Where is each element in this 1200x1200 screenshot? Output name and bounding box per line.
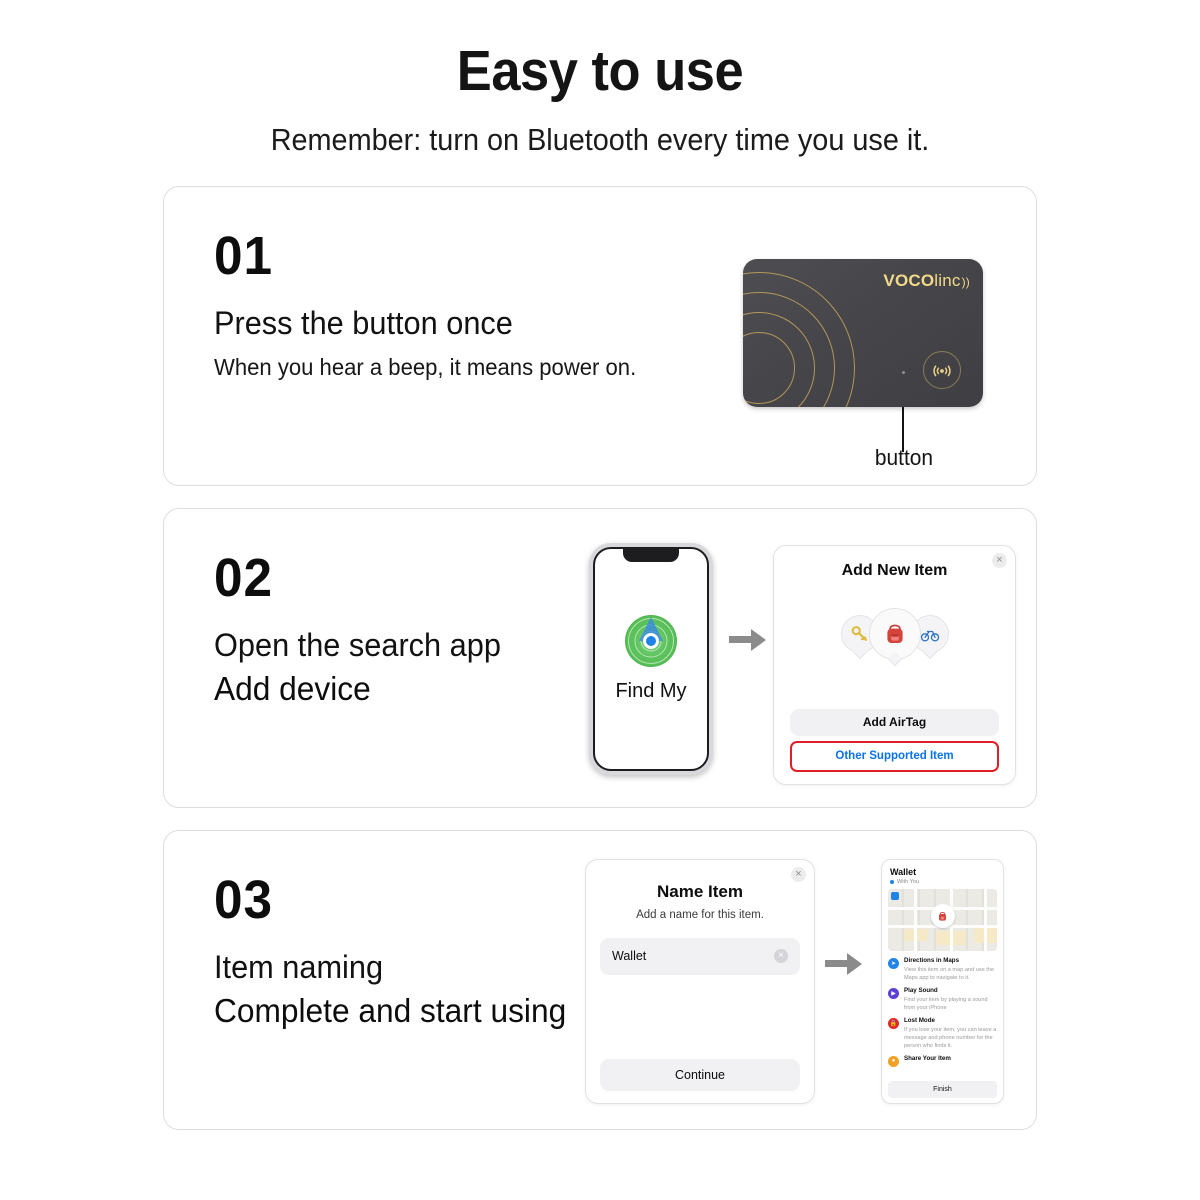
- wallet-detail-panel: Wallet With You: [881, 859, 1004, 1104]
- step-01-text: 01 Press the button once When you hear a…: [214, 229, 654, 381]
- add-new-item-title: Add New Item: [774, 562, 1015, 580]
- row-title: Directions in Maps: [904, 957, 997, 965]
- arrow-step2: [729, 629, 766, 651]
- row-desc: View this item on a map and use the Maps…: [904, 966, 997, 982]
- name-item-dialog: × Name Item Add a name for this item. Wa…: [585, 859, 815, 1104]
- status-dot-icon: [890, 880, 894, 884]
- list-item[interactable]: 🔒 Lost Mode If you lose your item, you c…: [888, 1017, 997, 1050]
- step-card-01: 01 Press the button once When you hear a…: [163, 186, 1037, 486]
- item-type-bubbles: [774, 608, 1015, 660]
- step-03-heading: Item naming: [214, 949, 566, 986]
- wallet-status: With You: [890, 879, 1003, 885]
- logo-linc-text: linc: [934, 271, 960, 291]
- logo-wifi-icon: )): [962, 275, 970, 289]
- findmy-app-label: Find My: [615, 680, 686, 703]
- arrow-step3: [825, 953, 862, 975]
- list-item[interactable]: ● Share Your Item: [888, 1055, 997, 1067]
- add-airtag-button[interactable]: Add AirTag: [790, 709, 999, 736]
- phone-screen: Find My: [593, 547, 709, 771]
- step-01-subtext: When you hear a beep, it means power on.: [214, 354, 636, 381]
- step-03-heading2: Complete and start using: [214, 992, 566, 1030]
- step-02-number: 02: [214, 551, 498, 605]
- name-item-subtitle: Add a name for this item.: [586, 909, 814, 921]
- wallet-status-text: With You: [897, 879, 919, 885]
- finish-button[interactable]: Finish: [888, 1081, 997, 1098]
- play-sound-icon: ▶: [888, 988, 899, 999]
- wallet-title: Wallet: [890, 867, 1003, 877]
- findmy-center-dot: [643, 633, 659, 649]
- tag-arc-pattern: [743, 277, 913, 407]
- step-02-heading: Open the search app: [214, 627, 501, 664]
- logo-voco-text: VOCO: [883, 271, 934, 291]
- wallet-action-list: ➤ Directions in Maps View this item on a…: [888, 957, 997, 1067]
- list-item[interactable]: ➤ Directions in Maps View this item on a…: [888, 957, 997, 982]
- close-icon[interactable]: ×: [992, 553, 1007, 568]
- other-supported-item-button[interactable]: Other Supported Item: [790, 741, 999, 772]
- row-desc: If you lose your item, you can leave a m…: [904, 1026, 997, 1050]
- close-icon[interactable]: ×: [791, 867, 806, 882]
- step-01-number: 01: [214, 229, 632, 283]
- wallet-map[interactable]: [888, 889, 997, 951]
- page-title: Easy to use: [48, 42, 1152, 102]
- steps-container: 01 Press the button once When you hear a…: [0, 186, 1200, 1130]
- name-item-title: Name Item: [586, 882, 814, 902]
- phone-notch: [623, 549, 679, 562]
- lost-mode-lock-icon: 🔒: [888, 1018, 899, 1029]
- row-title: Share Your Item: [904, 1055, 951, 1063]
- list-item[interactable]: ▶ Play Sound Find your item by playing a…: [888, 987, 997, 1012]
- vocolinc-logo: VOCOlinc)): [883, 271, 970, 291]
- directions-arrow-icon: ➤: [888, 958, 899, 969]
- add-new-item-dialog: × Add New Item: [773, 545, 1016, 785]
- row-desc: Find your item by playing a sound from y…: [904, 996, 997, 1012]
- step-03-text: 03 Item naming Complete and start using: [214, 873, 581, 1030]
- backpack-emoji-icon: [869, 608, 921, 660]
- map-location-badge-icon: [891, 892, 899, 900]
- step-01-heading: Press the button once: [214, 305, 636, 342]
- map-item-pin: [931, 904, 955, 928]
- clear-text-icon[interactable]: ×: [774, 949, 788, 963]
- share-people-icon: ●: [888, 1056, 899, 1067]
- item-name-value: Wallet: [612, 949, 646, 963]
- tag-led-indicator: [902, 371, 905, 374]
- step-02-text: 02 Open the search app Add device: [214, 551, 513, 708]
- callout-button-label: button: [866, 445, 942, 471]
- step-02-heading2: Add device: [214, 670, 501, 708]
- iphone-mockup: Find My: [589, 543, 713, 775]
- vocolinc-tag-device: VOCOlinc)): [743, 259, 983, 407]
- item-name-input[interactable]: Wallet ×: [600, 938, 800, 975]
- continue-button[interactable]: Continue: [600, 1059, 800, 1091]
- page-header: Easy to use Remember: turn on Bluetooth …: [0, 0, 1200, 158]
- row-title: Play Sound: [904, 987, 997, 995]
- step-card-03: 03 Item naming Complete and start using …: [163, 830, 1037, 1130]
- tag-press-button[interactable]: [923, 351, 961, 389]
- step-03-number: 03: [214, 873, 563, 927]
- step-card-02: 02 Open the search app Add device Find M…: [163, 508, 1037, 808]
- row-title: Lost Mode: [904, 1017, 997, 1025]
- page-subtitle: Remember: turn on Bluetooth every time y…: [42, 122, 1158, 158]
- findmy-radar-icon[interactable]: [625, 615, 677, 667]
